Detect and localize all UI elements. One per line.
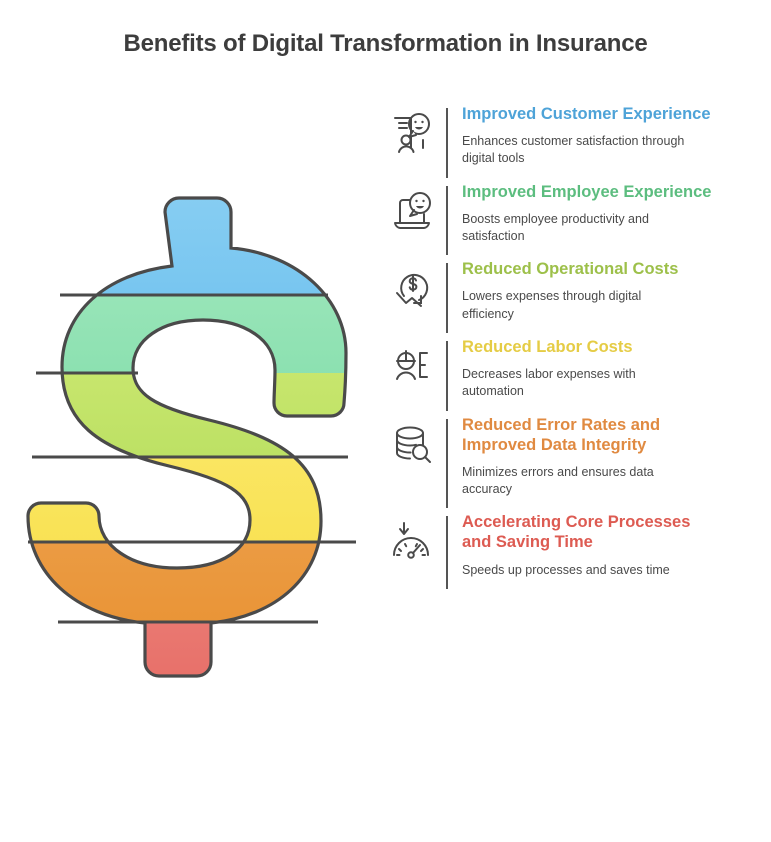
benefit-text-block: Improved Customer Experience Enhances cu…	[462, 104, 716, 182]
benefits-list: Improved Customer Experience Enhances cu…	[386, 104, 716, 593]
item-divider	[446, 108, 448, 178]
benefit-heading: Accelerating Core Processes and Saving T…	[462, 512, 716, 552]
benefit-text-block: Accelerating Core Processes and Saving T…	[462, 512, 716, 593]
benefit-heading: Reduced Error Rates and Improved Data In…	[462, 415, 716, 455]
dollar-sign-graphic	[18, 190, 378, 730]
item-divider	[446, 419, 448, 509]
benefit-heading: Reduced Labor Costs	[462, 337, 716, 357]
item-divider	[446, 516, 448, 589]
customer-screen-chat-icon	[386, 104, 438, 156]
dollar-down-arrow-icon	[386, 259, 438, 311]
benefit-text-block: Reduced Operational Costs Lowers expense…	[462, 259, 716, 337]
benefit-text-block: Reduced Labor Costs Decreases labor expe…	[462, 337, 716, 415]
benefit-heading: Improved Employee Experience	[462, 182, 716, 202]
benefit-description: Lowers expenses through digital efficien…	[462, 288, 694, 323]
benefit-item-improved-employee-experience[interactable]: Improved Employee Experience Boosts empl…	[386, 182, 716, 260]
benefit-heading: Reduced Operational Costs	[462, 259, 716, 279]
laptop-chat-icon	[386, 182, 438, 234]
benefit-text-block: Improved Employee Experience Boosts empl…	[462, 182, 716, 260]
speedometer-arrow-icon	[386, 512, 438, 564]
benefit-item-improved-customer-experience[interactable]: Improved Customer Experience Enhances cu…	[386, 104, 716, 182]
page-title: Benefits of Digital Transformation in In…	[0, 30, 771, 58]
database-search-icon	[386, 415, 438, 467]
benefit-item-reduced-error-rates[interactable]: Reduced Error Rates and Improved Data In…	[386, 415, 716, 513]
benefit-heading: Improved Customer Experience	[462, 104, 716, 124]
item-divider	[446, 341, 448, 411]
benefit-item-reduced-labor-costs[interactable]: Reduced Labor Costs Decreases labor expe…	[386, 337, 716, 415]
benefit-description: Enhances customer satisfaction through d…	[462, 133, 694, 168]
benefit-item-reduced-operational-costs[interactable]: Reduced Operational Costs Lowers expense…	[386, 259, 716, 337]
benefit-description: Speeds up processes and saves time	[462, 562, 694, 579]
benefit-text-block: Reduced Error Rates and Improved Data In…	[462, 415, 716, 513]
worker-bracket-icon	[386, 337, 438, 389]
item-divider	[446, 263, 448, 333]
benefit-description: Minimizes errors and ensures data accura…	[462, 464, 694, 499]
benefit-item-accelerating-core-processes[interactable]: Accelerating Core Processes and Saving T…	[386, 512, 716, 593]
benefit-description: Boosts employee productivity and satisfa…	[462, 211, 694, 246]
item-divider	[446, 186, 448, 256]
benefit-description: Decreases labor expenses with automation	[462, 366, 694, 401]
